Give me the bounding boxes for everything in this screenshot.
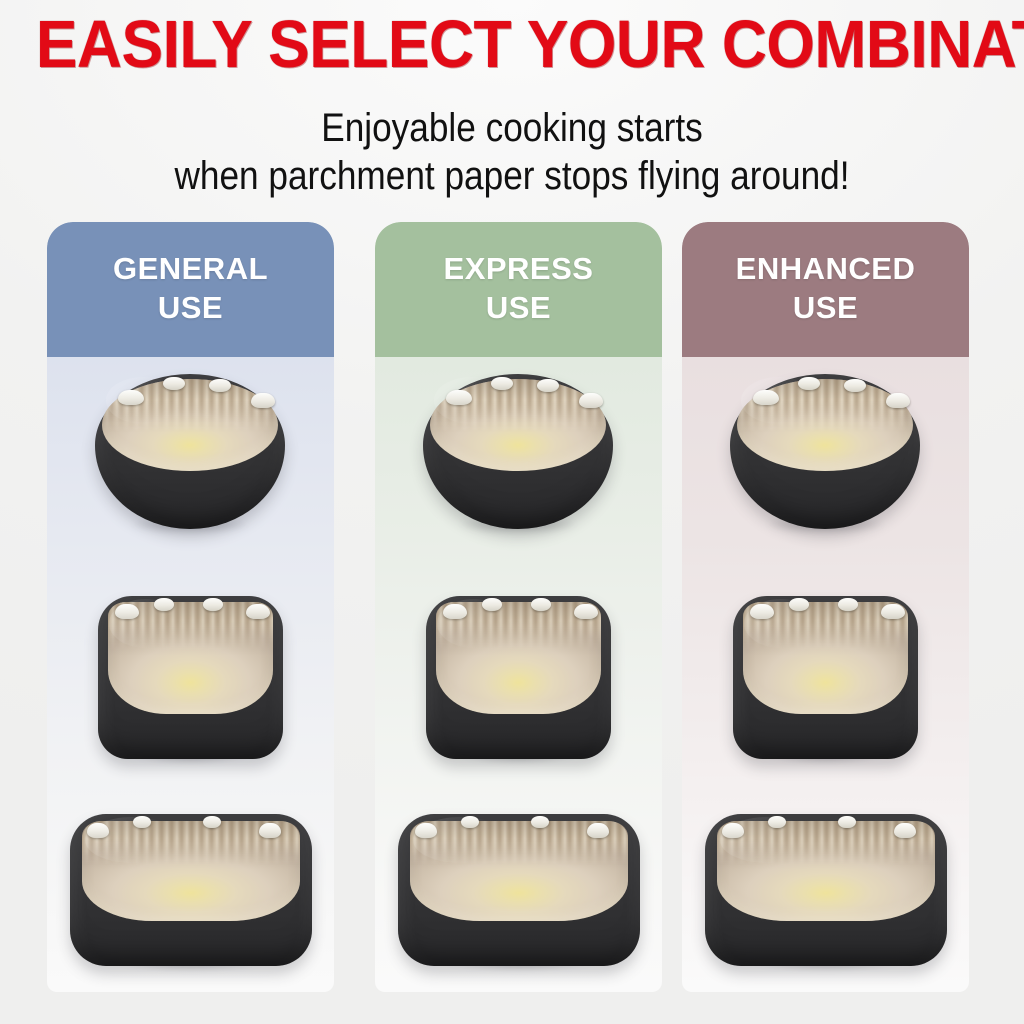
silicone-clip-icon: [844, 379, 866, 392]
silicone-clip-icon: [118, 390, 144, 405]
silicone-clip-icon: [443, 604, 467, 619]
column-header-express: EXPRESS USE: [375, 222, 662, 357]
silicone-clip-icon: [838, 598, 858, 611]
product-wide-general: [70, 814, 312, 966]
liner-inner-shadow: [436, 602, 601, 714]
column-title-line-1: GENERAL: [113, 251, 268, 286]
promo-poster: EASILY SELECT YOUR COMBINATION MODE Enjo…: [0, 0, 1024, 1024]
silicone-clip-icon: [446, 390, 472, 405]
column-title-line-2: USE: [736, 288, 916, 327]
product-round-general: [95, 374, 285, 529]
silicone-clip-icon: [87, 823, 109, 838]
silicone-clip-icon: [768, 816, 786, 828]
silicone-clip-icon: [203, 598, 223, 611]
product-round-express: [423, 374, 613, 529]
silicone-clip-icon: [531, 816, 549, 828]
silicone-clip-icon: [587, 823, 609, 838]
silicone-clip-icon: [894, 823, 916, 838]
silicone-clip-icon: [531, 598, 551, 611]
silicone-clip-icon: [750, 604, 774, 619]
page-title: EASILY SELECT YOUR COMBINATION MODE: [36, 8, 988, 82]
liner-inner-shadow: [743, 602, 908, 714]
silicone-clip-icon: [579, 393, 603, 408]
page-subtitle: Enjoyable cooking starts when parchment …: [61, 104, 962, 200]
product-round-enhanced: [730, 374, 920, 529]
column-title-line-1: ENHANCED: [736, 251, 916, 286]
column-header-enhanced: ENHANCED USE: [682, 222, 969, 357]
parchment-liner: [436, 602, 601, 714]
silicone-clip-icon: [753, 390, 779, 405]
parchment-liner: [108, 602, 273, 714]
column-title-line-2: USE: [444, 288, 594, 327]
product-square-express: [426, 596, 611, 759]
silicone-clip-icon: [789, 598, 809, 611]
subtitle-line-2: when parchment paper stops flying around…: [61, 152, 962, 200]
parchment-liner: [743, 602, 908, 714]
silicone-clip-icon: [722, 823, 744, 838]
liner-inner-shadow: [108, 602, 273, 714]
product-square-enhanced: [733, 596, 918, 759]
silicone-clip-icon: [537, 379, 559, 392]
silicone-clip-icon: [203, 816, 221, 828]
silicone-clip-icon: [209, 379, 231, 392]
silicone-clip-icon: [482, 598, 502, 611]
product-square-general: [98, 596, 283, 759]
silicone-clip-icon: [115, 604, 139, 619]
silicone-clip-icon: [574, 604, 598, 619]
silicone-clip-icon: [461, 816, 479, 828]
silicone-clip-icon: [259, 823, 281, 838]
column-title-line-2: USE: [113, 288, 268, 327]
silicone-clip-icon: [251, 393, 275, 408]
silicone-clip-icon: [133, 816, 151, 828]
silicone-clip-icon: [246, 604, 270, 619]
silicone-clip-icon: [838, 816, 856, 828]
column-header-general: GENERAL USE: [47, 222, 334, 357]
silicone-clip-icon: [886, 393, 910, 408]
silicone-clip-icon: [881, 604, 905, 619]
subtitle-line-1: Enjoyable cooking starts: [321, 106, 703, 150]
column-title-line-1: EXPRESS: [444, 251, 594, 286]
mode-columns: GENERAL USE EXPRESS USE ENHANCED USE: [0, 222, 1024, 1012]
silicone-clip-icon: [415, 823, 437, 838]
product-wide-enhanced: [705, 814, 947, 966]
product-wide-express: [398, 814, 640, 966]
silicone-clip-icon: [154, 598, 174, 611]
